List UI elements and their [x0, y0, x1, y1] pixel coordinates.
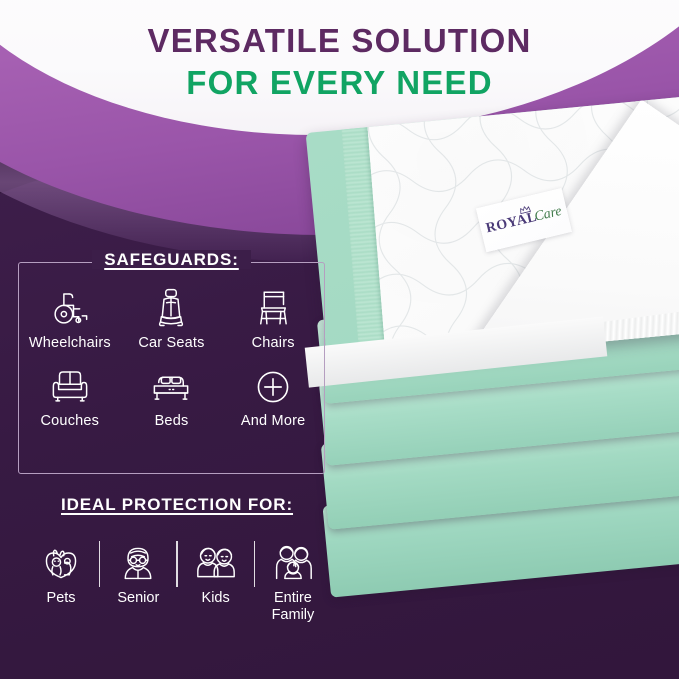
product-photo: ROYAL Care: [296, 96, 679, 679]
ideal-item-kids: Kids: [180, 537, 252, 607]
bed-icon: [149, 361, 193, 407]
brand-name-secondary: Care: [533, 203, 563, 225]
ideal-item-label: Pets: [47, 590, 76, 607]
divider: [99, 541, 100, 587]
divider: [176, 541, 177, 587]
ideal-protection-row: Pets: [18, 537, 336, 623]
ideal-item-pets: Pets: [25, 537, 97, 607]
ideal-item-label: Kids: [202, 590, 230, 607]
ideal-item-label: Senior: [117, 590, 159, 607]
safeguards-title: SAFEGUARDS:: [19, 250, 324, 270]
safeguard-item-couches: Couches: [19, 361, 121, 429]
pets-icon: [41, 537, 81, 583]
safeguard-label: Chairs: [252, 335, 295, 351]
ideal-protection-title: IDEAL PROTECTION FOR:: [18, 495, 336, 515]
chair-icon: [253, 283, 293, 329]
ideal-protection-section: IDEAL PROTECTION FOR:: [18, 495, 336, 623]
safeguard-item-chairs: Chairs: [222, 283, 324, 351]
safeguard-item-and-more: And More: [222, 361, 324, 429]
ideal-item-label: Entire Family: [257, 590, 329, 623]
family-icon: [271, 537, 315, 583]
safeguard-item-wheelchairs: Wheelchairs: [19, 283, 121, 351]
ideal-item-entire-family: Entire Family: [257, 537, 329, 623]
senior-icon: [118, 537, 158, 583]
safeguard-label: Car Seats: [138, 335, 204, 351]
safeguard-label: Beds: [155, 413, 189, 429]
safeguard-label: And More: [241, 413, 305, 429]
ideal-item-senior: Senior: [102, 537, 174, 607]
safeguard-label: Couches: [41, 413, 100, 429]
divider: [254, 541, 255, 587]
wheelchair-icon: [49, 283, 91, 329]
safeguards-grid: Wheelchairs Car Seats: [19, 283, 324, 429]
safeguards-title-text: SAFEGUARDS:: [92, 250, 251, 269]
safeguard-item-beds: Beds: [121, 361, 223, 429]
safeguards-panel: SAFEGUARDS: Wheel: [18, 262, 325, 474]
safeguard-label: Wheelchairs: [29, 335, 111, 351]
brand-name-primary: ROYAL: [484, 209, 538, 237]
couch-icon: [49, 361, 91, 407]
plus-circle-icon: [253, 361, 293, 407]
safeguard-item-car-seats: Car Seats: [121, 283, 223, 351]
kids-icon: [194, 537, 238, 583]
product-infographic: ROYAL Care VERSATILE SOLUTION FOR EVERY …: [0, 0, 679, 679]
car-seat-icon: [151, 283, 191, 329]
